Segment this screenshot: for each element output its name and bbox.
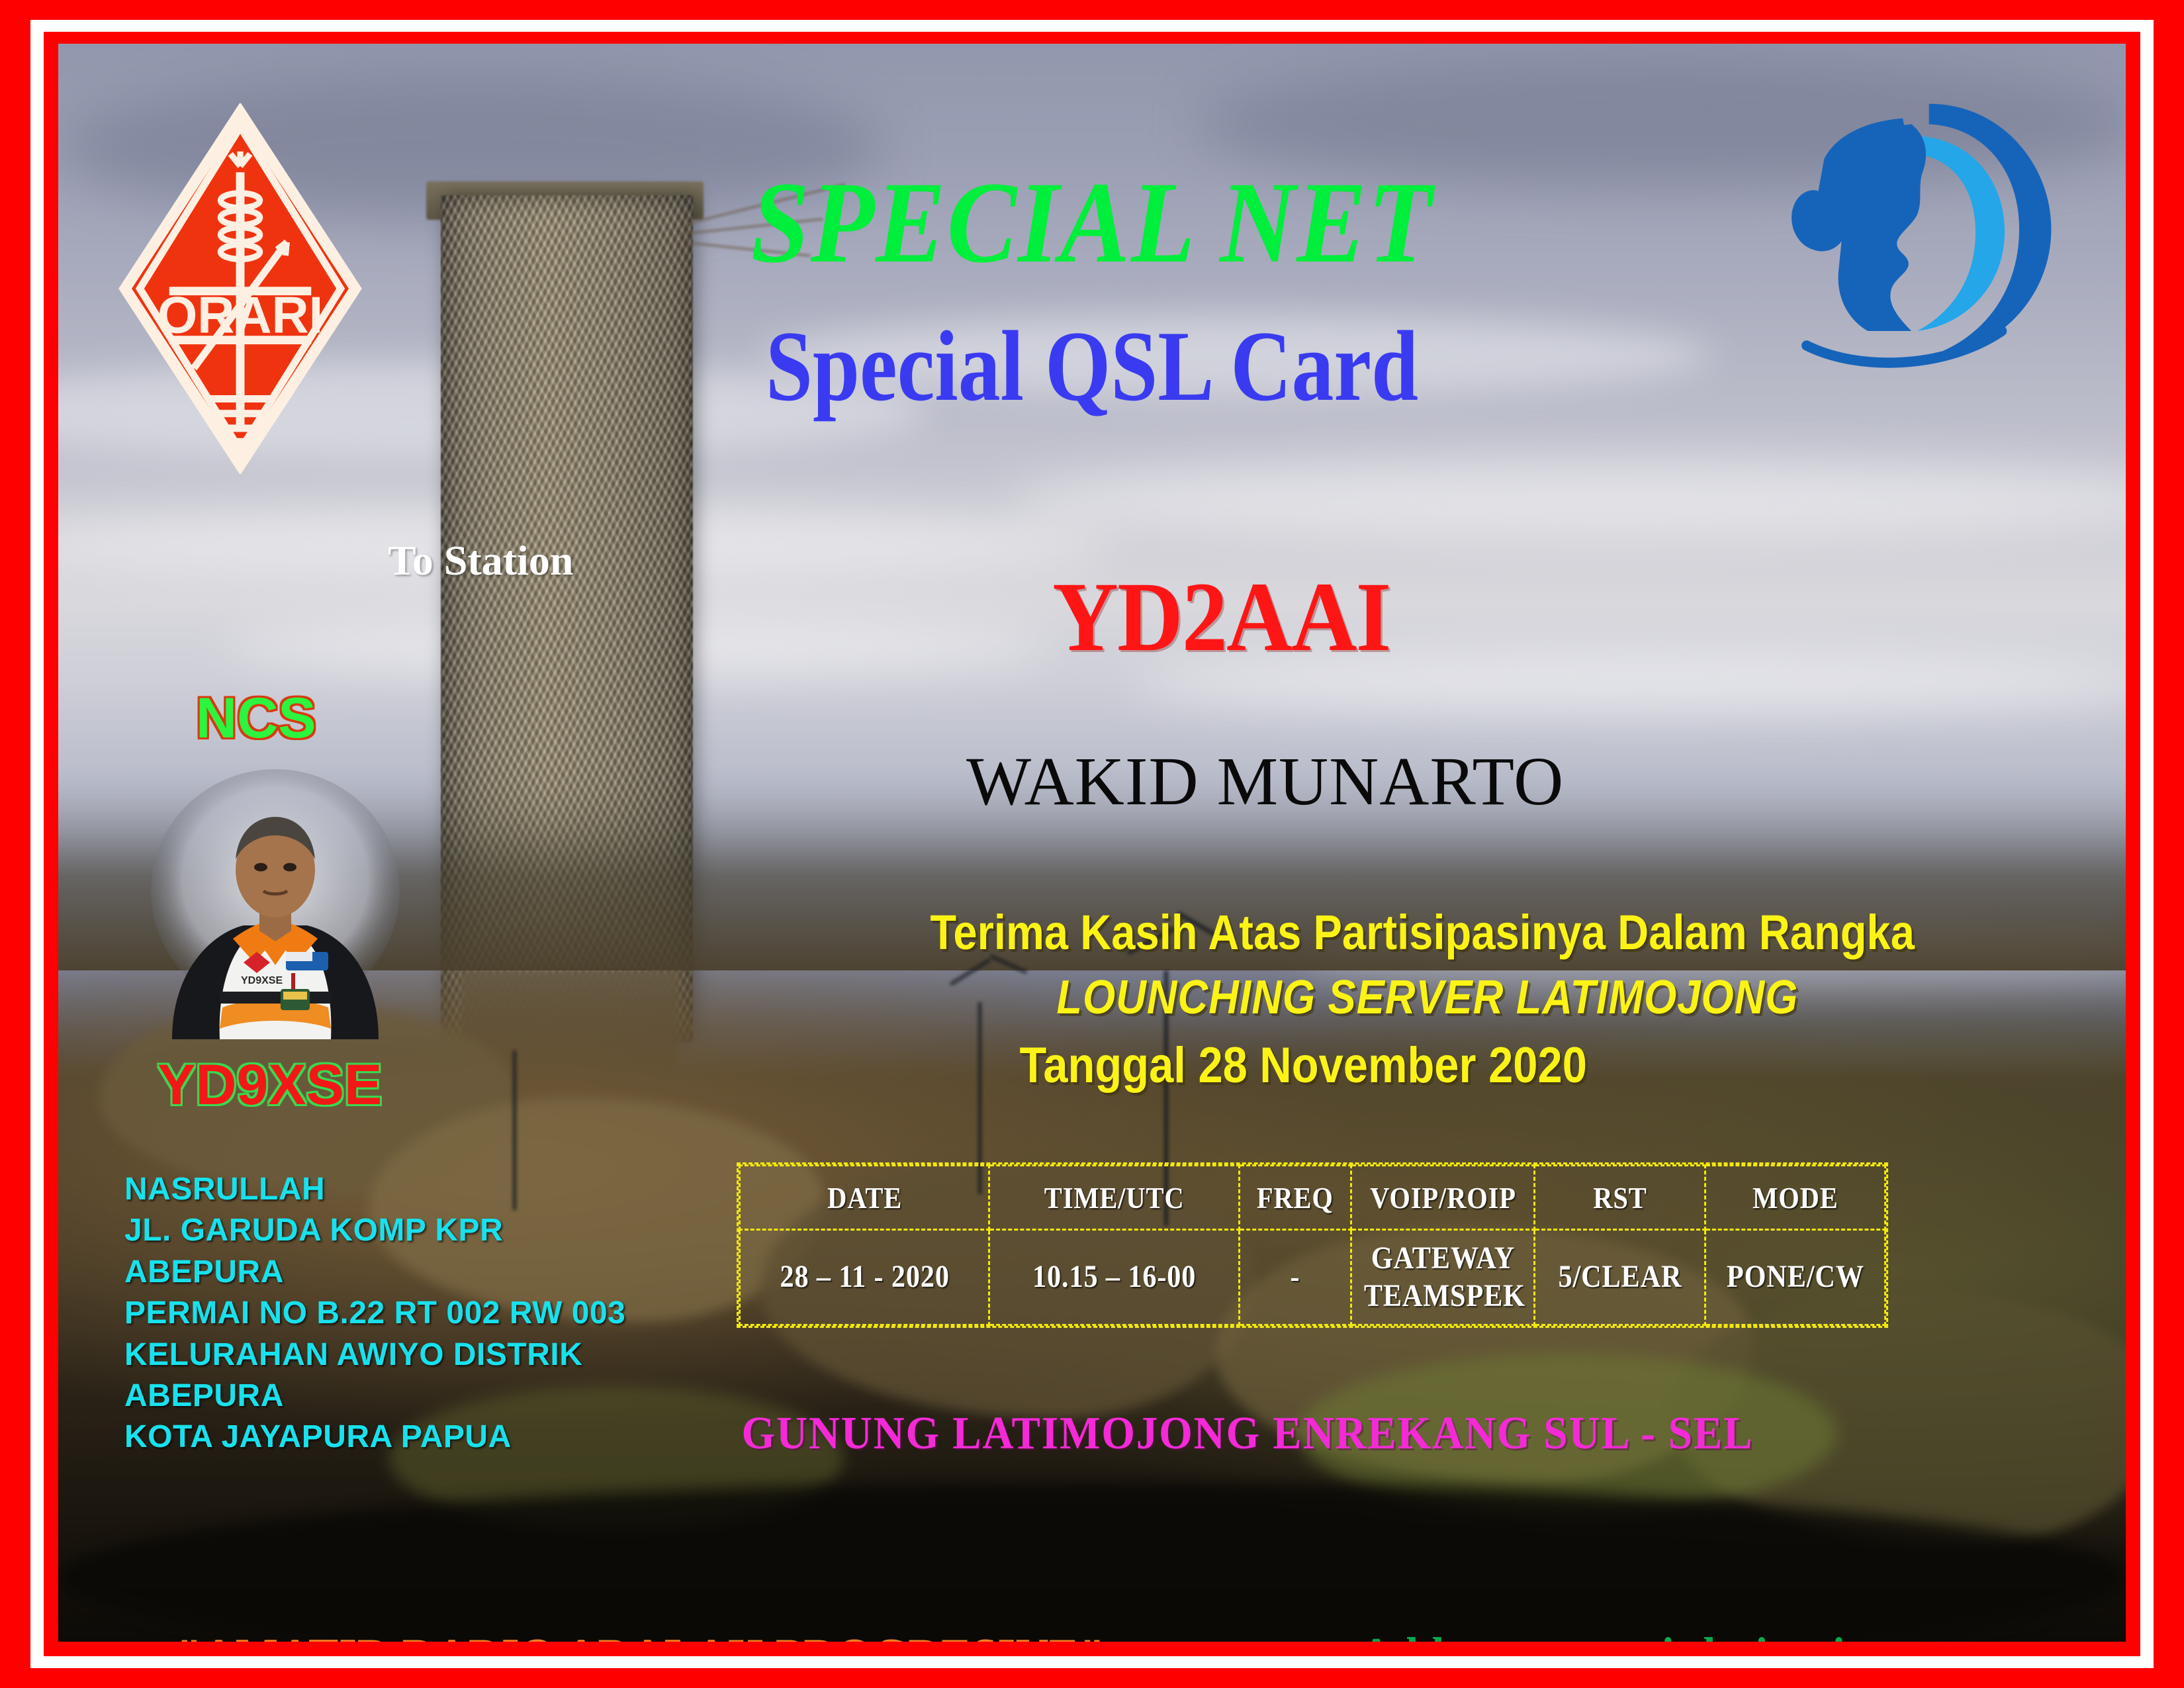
address-line: KOTA JAYAPURA PAPUA <box>124 1417 654 1458</box>
card-photo-background: ORARI SPECIAL NET Special QSL Card To St… <box>58 44 2126 1642</box>
slogan-text: "AMATIR RADIO ADALAH PROGRESIVE" <box>177 1628 1105 1642</box>
col-header-date: DATE <box>754 1166 974 1230</box>
qsl-card: ORARI SPECIAL NET Special QSL Card To St… <box>0 0 2184 1688</box>
cell-voip: GATEWAY TEAMSPEK <box>1362 1230 1524 1325</box>
address-line: PERMAI NO B.22 RT 002 RW 003 <box>124 1293 654 1334</box>
operator-name: WAKID MUNARTO <box>966 742 1564 821</box>
cell-rst: 5/CLEAR <box>1545 1230 1695 1325</box>
cell-freq: - <box>1246 1230 1344 1325</box>
ncs-label: NCS <box>196 686 316 751</box>
address-line: JL. GARUDA KOMP KPR <box>124 1210 654 1251</box>
table-header-row: DATE TIME/UTC FREQ VOIP/ROIP RST MODE <box>740 1166 1886 1230</box>
event-line: LOUNCHING SERVER LATIMOJONG <box>1056 970 1798 1025</box>
col-header-rst: RST <box>1545 1166 1695 1230</box>
event-date-line: Tanggal 28 November 2020 <box>1019 1037 1586 1094</box>
page-subtitle: Special QSL Card <box>224 308 1960 424</box>
cell-time: 10.15 – 16-00 <box>1004 1230 1224 1325</box>
address-line: NASRULLAH <box>124 1169 654 1210</box>
web-address-text: Address : amatir.latimojong.com <box>1360 1627 2012 1642</box>
cell-date: 28 – 11 - 2020 <box>754 1230 974 1325</box>
col-header-time: TIME/UTC <box>1004 1166 1224 1230</box>
table-row: 28 – 11 - 2020 10.15 – 16-00 - GATEWAY T… <box>740 1230 1886 1325</box>
station-address-block: NASRULLAH JL. GARUDA KOMP KPR ABEPURA PE… <box>124 1169 654 1458</box>
ncs-operator-photo: YD9XSE <box>143 764 408 1042</box>
col-header-mode: MODE <box>1716 1166 1874 1230</box>
to-station-label: To Station <box>388 536 573 585</box>
address-line: ABEPURA <box>124 1376 654 1417</box>
address-line: ABEPURA <box>124 1252 654 1293</box>
col-header-voip: VOIP/ROIP <box>1362 1166 1524 1230</box>
uniform-callsign-text: YD9XSE <box>241 975 283 986</box>
col-header-freq: FREQ <box>1246 1166 1344 1230</box>
station-callsign: YD2AAI <box>1052 560 1390 674</box>
ncs-callsign: YD9XSE <box>158 1053 382 1118</box>
address-line: KELURAHAN AWIYO DISTRIK <box>124 1335 654 1376</box>
qso-table: DATE TIME/UTC FREQ VOIP/ROIP RST MODE 28… <box>737 1162 1888 1328</box>
cell-voip-line1: GATEWAY <box>1364 1240 1522 1278</box>
cell-voip-line2: TEAMSPEK <box>1364 1278 1522 1315</box>
mountain-caption: GUNUNG LATIMOJONG ENREKANG SUL - SEL <box>742 1407 1754 1460</box>
cell-mode: PONE/CW <box>1716 1230 1874 1325</box>
page-title: SPECIAL NET <box>161 156 2023 290</box>
thanks-line: Terima Kasih Atas Partisipasinya Dalam R… <box>930 904 1915 961</box>
